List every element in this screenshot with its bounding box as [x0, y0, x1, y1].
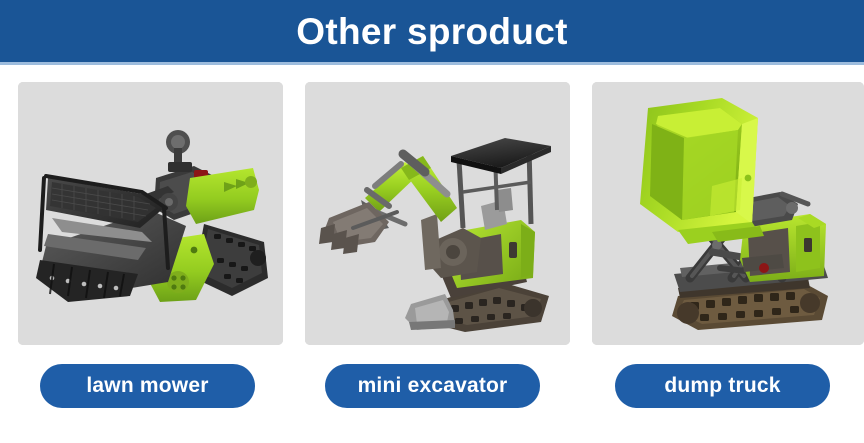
product-label-button-row: lawn mower mini excavator dump truck	[0, 364, 864, 408]
product-showcase-page: Other sproduct	[0, 0, 864, 443]
header-underline	[0, 62, 864, 65]
product-button-lawn-mower[interactable]: lawn mower	[40, 364, 255, 408]
product-button-dump-truck[interactable]: dump truck	[615, 364, 830, 408]
product-card-row	[0, 82, 864, 345]
page-header-banner: Other sproduct	[0, 0, 864, 62]
product-card-lawn-mower[interactable]	[18, 82, 283, 345]
product-card-dump-truck[interactable]	[592, 82, 864, 345]
product-card-mini-excavator[interactable]	[305, 82, 570, 345]
tracked-robot-lawn-mower-photo	[18, 82, 283, 345]
mini-excavator-photo	[305, 82, 570, 345]
product-button-mini-excavator[interactable]: mini excavator	[325, 364, 540, 408]
page-title: Other sproduct	[296, 13, 567, 50]
tracked-dump-truck-photo	[592, 82, 864, 345]
